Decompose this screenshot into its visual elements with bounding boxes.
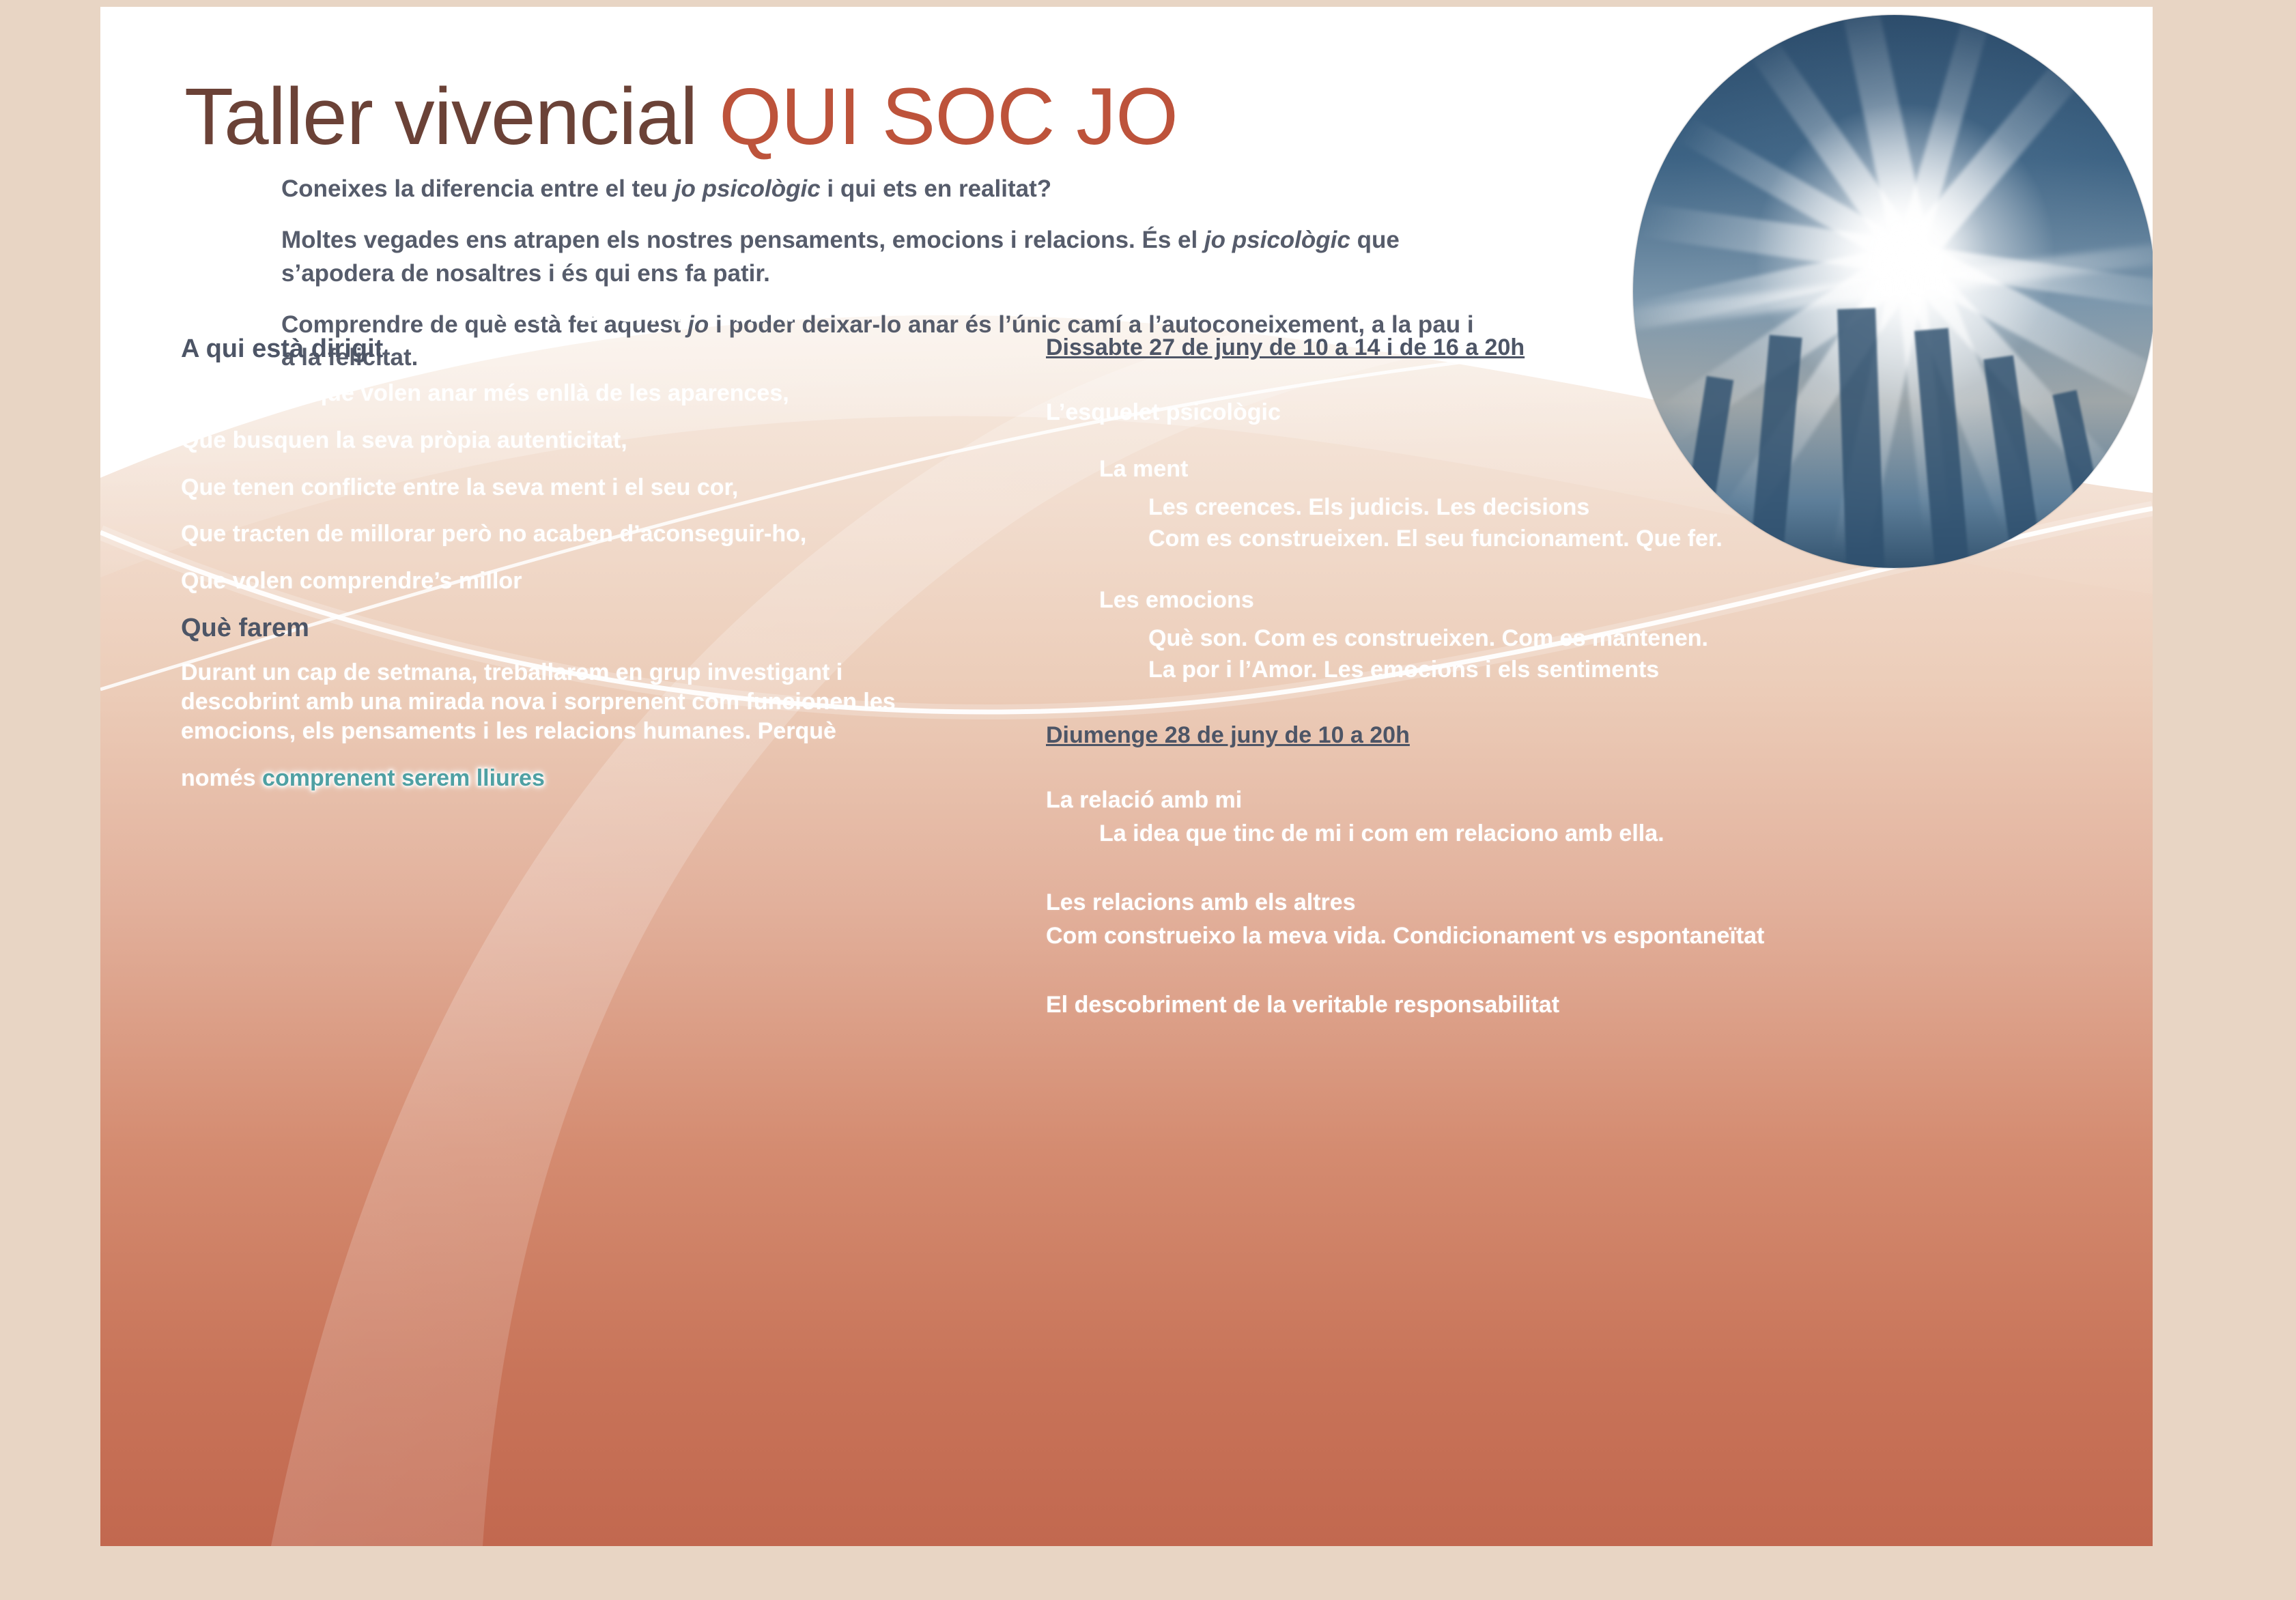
audience-item: Que busquen la seva pròpia autenticitat, (181, 426, 966, 455)
block-line: La idea que tinc de mi i com em relacion… (1099, 820, 2056, 847)
intro-p2-a: Moltes vegades ens atrapen els nostres p… (281, 227, 1204, 253)
audience-item: Que volen comprendre’s millor (181, 567, 966, 596)
title-part-qui-soc-jo: QUI SOC JO (719, 72, 1178, 162)
left-column: A qui està dirigit A persones que volen … (181, 334, 966, 792)
programa-heading: PROGRAMA (498, 275, 793, 333)
section-line: Com es construeixen. El seu funcionament… (1148, 524, 2056, 555)
section-line: Les creences. Els judicis. Les decisions (1148, 492, 2056, 524)
page-title: Taller vivencial QUI SOC JO (184, 76, 1178, 158)
intro-paragraph-1: Coneixes la diferencia entre el teu jo p… (281, 173, 1476, 205)
what-we-do-paragraph: Durant un cap de setmana, treballarem en… (181, 658, 966, 745)
section-line: Què son. Com es construeixen. Com es man… (1148, 623, 2056, 655)
intro-p1-a: Coneixes la diferencia entre el teu (281, 175, 675, 202)
section-title-les-emocions: Les emocions (1099, 587, 2056, 614)
section-line: La por i l’Amor. Les emocions i els sent… (1148, 655, 2056, 686)
right-column: Dissabte 27 de juny de 10 a 14 i de 16 a… (1046, 334, 2056, 1018)
title-part-workshop: Taller vivencial (184, 72, 719, 162)
block-title-les-relacions-amb-els-altres: Les relacions amb els altres (1046, 889, 2056, 916)
audience-item: Que tracten de millorar però no acaben d… (181, 519, 966, 549)
final-line-responsabilitat: El descobriment de la veritable responsa… (1046, 992, 2056, 1018)
poster-page: Taller vivencial QUI SOC JO Coneixes la … (0, 0, 2296, 1600)
closing-highlight: comprenent serem lliures (262, 765, 545, 791)
section-title-la-ment: La ment (1099, 456, 2056, 483)
day-date-saturday: Dissabte 27 de juny de 10 a 14 i de 16 a… (1046, 334, 2056, 361)
audience-item: Que tenen conflicte entre la seva ment i… (181, 473, 966, 502)
block-title-la-relacio-amb-mi: La relació amb mi (1046, 787, 2056, 814)
closing-prefix: només (181, 765, 262, 791)
audience-item: A persones que volen anar més enllà de l… (181, 379, 966, 408)
intro-p1-emphasis: jo psicològic (675, 175, 821, 202)
closing-line: només comprenent serem lliures (181, 764, 966, 793)
slide-canvas: Taller vivencial QUI SOC JO Coneixes la … (100, 7, 2153, 1546)
heading-que-farem: Què farem (181, 614, 966, 643)
intro-p2-emphasis: jo psicològic (1204, 227, 1350, 253)
heading-a-qui-esta-dirigit: A qui està dirigit (181, 334, 966, 364)
intro-paragraph-2: Moltes vegades ens atrapen els nostres p… (281, 224, 1476, 290)
intro-p1-b: i qui ets en realitat? (821, 175, 1051, 202)
day-topic-saturday: L’esquelet psicològic (1046, 399, 2056, 426)
day-date-sunday: Diumenge 28 de juny de 10 a 20h (1046, 722, 2056, 749)
block-line: Com construeixo la meva vida. Condiciona… (1099, 923, 2056, 949)
